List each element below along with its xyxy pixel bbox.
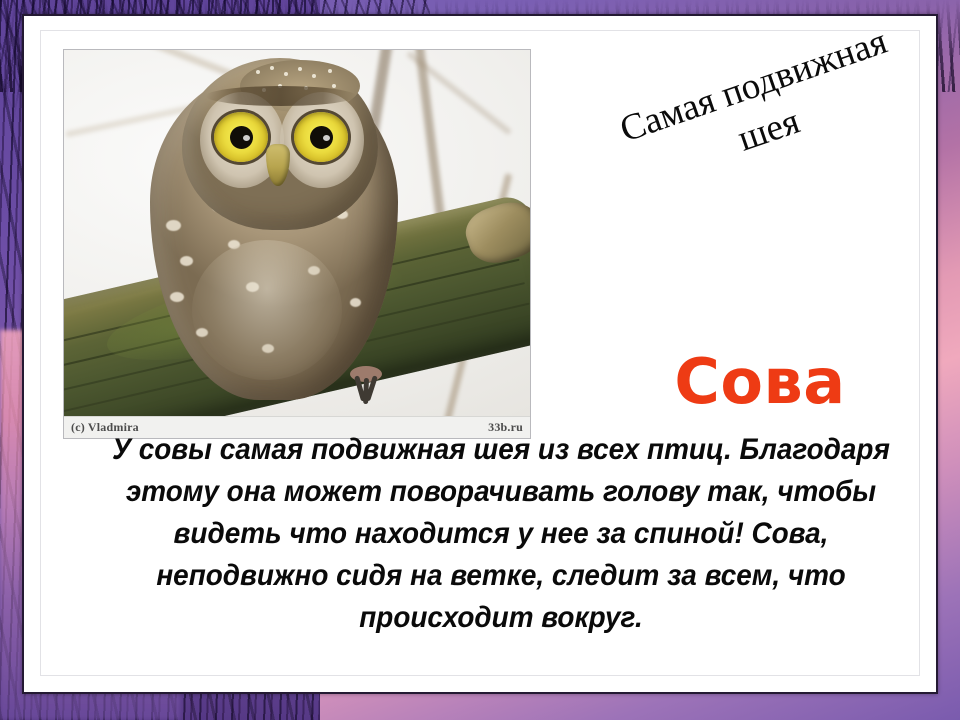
owl-talons bbox=[346, 370, 388, 410]
owl-crown-speck bbox=[298, 67, 302, 71]
owl-crown-speck bbox=[312, 74, 316, 78]
owl-eye-glint bbox=[243, 135, 250, 141]
owl-crown-speck bbox=[332, 84, 336, 88]
owl-crown-speck bbox=[270, 66, 274, 70]
owl-plumage-spot bbox=[170, 292, 184, 302]
slide-card-inner-border: (c) Vladmira 33b.ru Самая подвижная шея … bbox=[40, 30, 920, 676]
owl-crown-speck bbox=[328, 69, 332, 73]
rotated-title: Самая подвижная шея bbox=[576, 6, 947, 211]
owl-breast bbox=[192, 240, 342, 380]
owl-plumage-spot bbox=[180, 256, 193, 266]
owl-pupil bbox=[230, 126, 253, 149]
slide-root: (c) Vladmira 33b.ru Самая подвижная шея … bbox=[0, 0, 960, 720]
owl-crown-speck bbox=[284, 72, 288, 76]
owl-eye-right bbox=[294, 112, 348, 162]
body-paragraph: У совы самая подвижная шея из всех птиц.… bbox=[107, 429, 896, 639]
owl-photo: (c) Vladmira 33b.ru bbox=[63, 49, 531, 439]
owl-crown-speck bbox=[256, 70, 260, 74]
owl-beak bbox=[266, 144, 290, 186]
owl-eye-glint bbox=[323, 135, 330, 141]
owl-pupil bbox=[310, 126, 333, 149]
owl-photo-canvas bbox=[64, 50, 530, 416]
owl-head bbox=[182, 58, 378, 230]
page-title: Сова bbox=[565, 345, 955, 418]
owl-plumage-spot bbox=[166, 220, 181, 231]
owl-eye-left bbox=[214, 112, 268, 162]
owl-brow bbox=[206, 86, 356, 106]
slide-card: (c) Vladmira 33b.ru Самая подвижная шея … bbox=[22, 14, 938, 694]
owl-plumage-spot bbox=[350, 298, 361, 307]
